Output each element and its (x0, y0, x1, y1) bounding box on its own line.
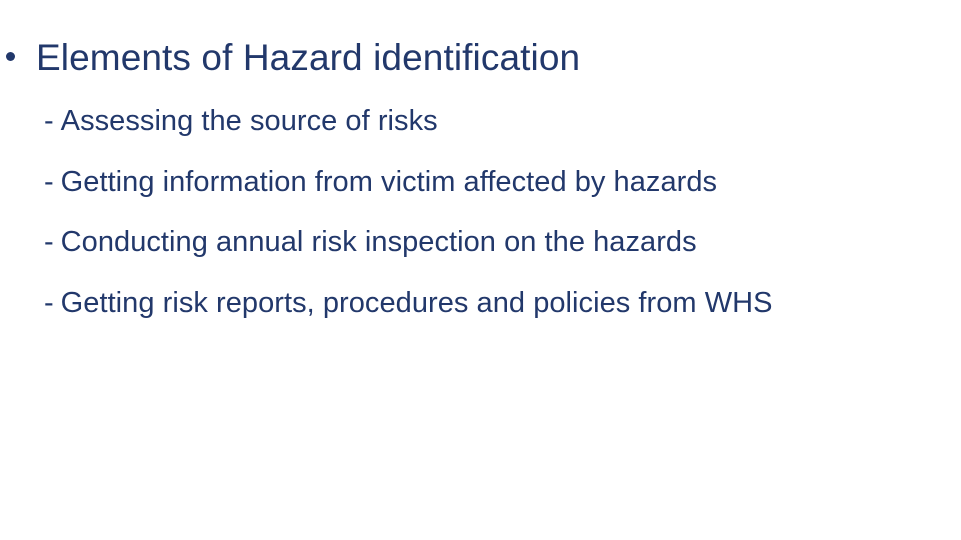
dash-icon: - (44, 165, 54, 199)
dash-icon: - (44, 225, 54, 259)
dash-icon: - (44, 286, 54, 320)
bullet-point-icon (6, 52, 15, 61)
list-item: - Getting risk reports, procedures and p… (44, 286, 924, 347)
list-item: - Getting information from victim affect… (44, 165, 924, 226)
list-item: - Assessing the source of risks (44, 104, 924, 165)
presentation-slide: Elements of Hazard identification - Asse… (0, 0, 961, 540)
list-item-label: Getting information from victim affected… (61, 165, 717, 199)
list-item-label: Assessing the source of risks (61, 104, 438, 138)
list-item-label: Conducting annual risk inspection on the… (61, 225, 697, 259)
sub-bullet-list: - Assessing the source of risks - Gettin… (44, 104, 924, 346)
dash-icon: - (44, 104, 54, 138)
list-item: - Conducting annual risk inspection on t… (44, 225, 924, 286)
slide-title: Elements of Hazard identification (36, 36, 580, 80)
slide-title-row: Elements of Hazard identification (0, 36, 580, 80)
list-item-label: Getting risk reports, procedures and pol… (61, 286, 773, 320)
